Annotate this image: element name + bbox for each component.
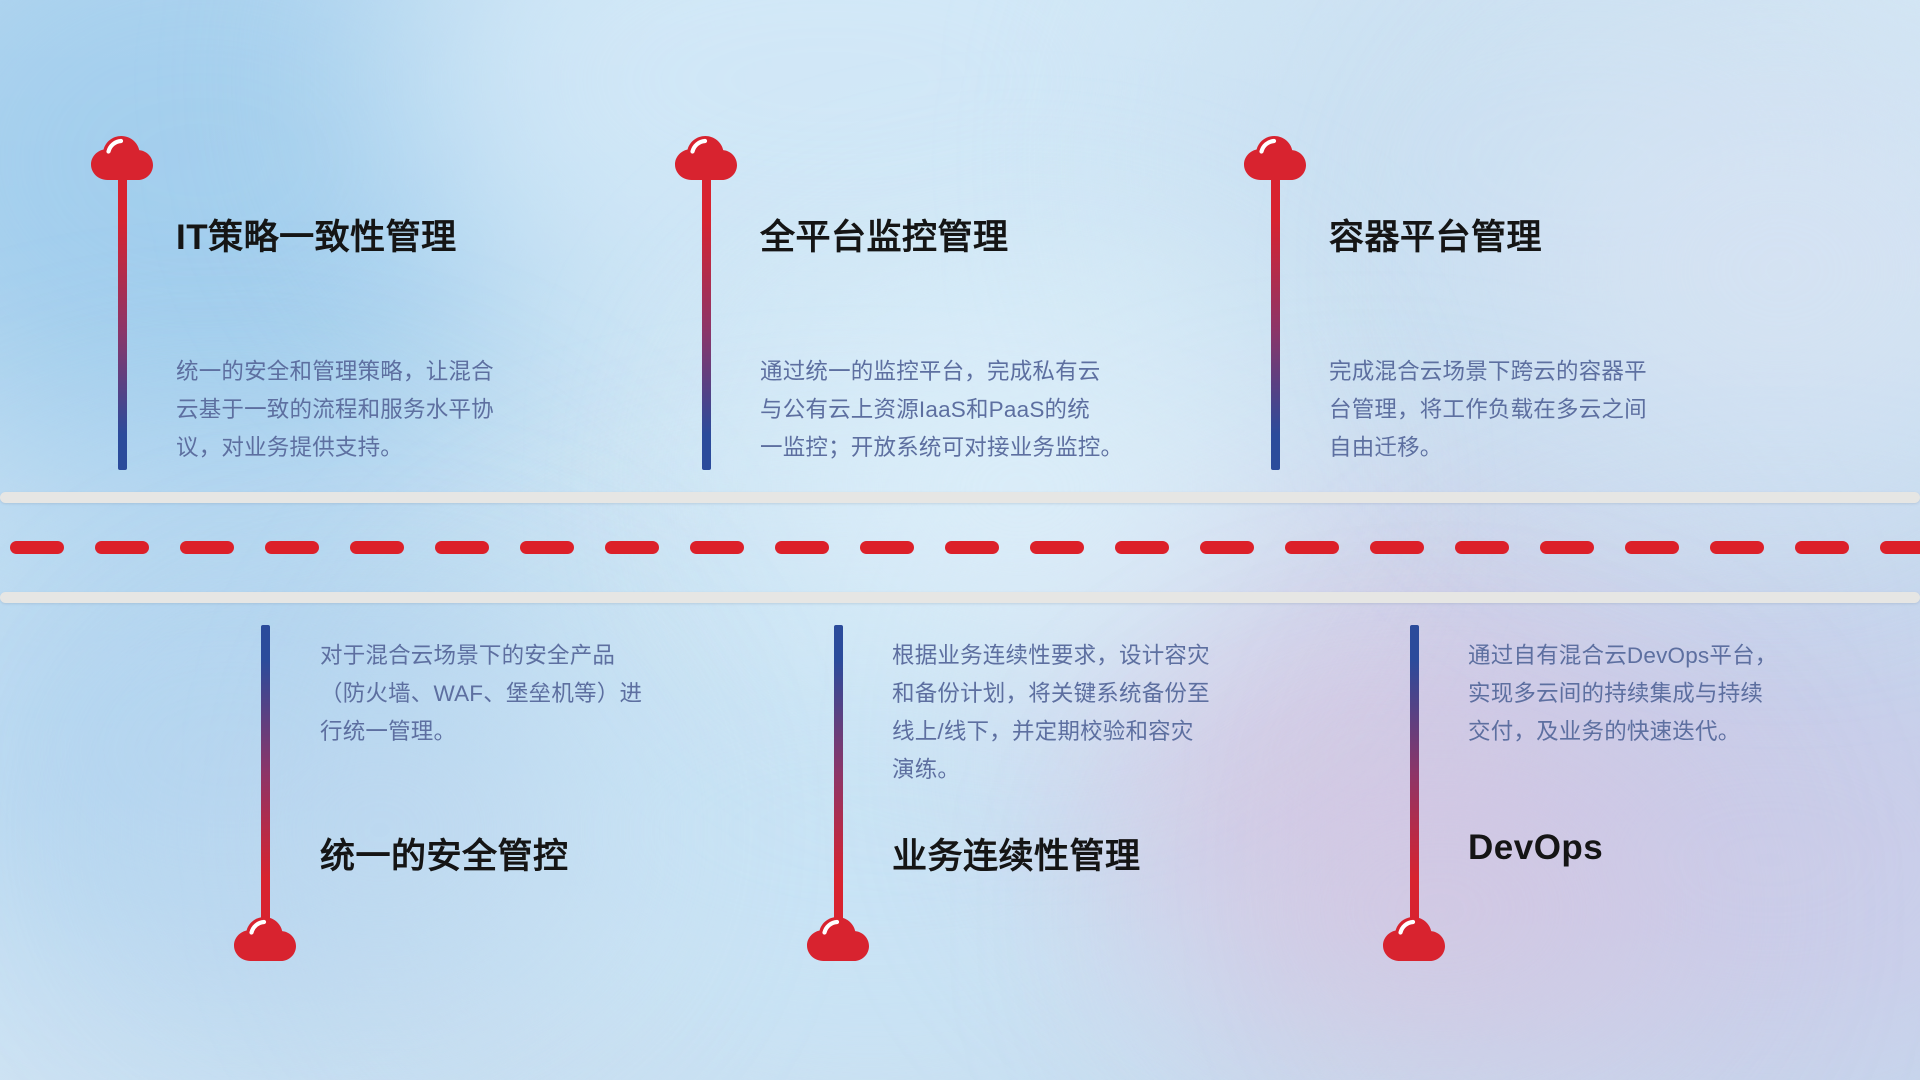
description-line: 通过统一的监控平台，完成私有云 xyxy=(760,353,1123,391)
item-title: DevOps xyxy=(1468,828,1603,868)
road-dash xyxy=(1625,541,1679,554)
road-dash xyxy=(1200,541,1254,554)
description-line: 实现多云间的持续集成与持续 xyxy=(1468,675,1777,713)
road-dash xyxy=(180,541,234,554)
description-line: 行统一管理。 xyxy=(320,713,642,751)
description-line: 完成混合云场景下跨云的容器平 xyxy=(1329,353,1647,391)
item-description: 根据业务连续性要求，设计容灾和备份计划，将关键系统备份至线上/线下，并定期校验和… xyxy=(892,637,1210,789)
item-title: 业务连续性管理 xyxy=(892,828,1141,879)
road-dash xyxy=(1115,541,1169,554)
description-line: 交付，及业务的快速迭代。 xyxy=(1468,713,1777,751)
cloud-icon xyxy=(1244,136,1306,181)
road-edge-top xyxy=(0,492,1920,503)
road-dash xyxy=(1285,541,1339,554)
road-dash xyxy=(435,541,489,554)
road-dash xyxy=(265,541,319,554)
item-stem xyxy=(261,625,270,920)
infographic-canvas: IT策略一致性管理统一的安全和管理策略，让混合云基于一致的流程和服务水平协议，对… xyxy=(0,0,1920,1080)
item-stem xyxy=(834,625,843,920)
item-stem xyxy=(1410,625,1419,920)
road-dash xyxy=(1540,541,1594,554)
description-line: 演练。 xyxy=(892,751,1210,789)
road-dash xyxy=(945,541,999,554)
cloud-icon xyxy=(234,917,296,962)
item-title: 全平台监控管理 xyxy=(760,209,1009,260)
description-line: 台管理，将工作负载在多云之间 xyxy=(1329,391,1647,429)
road-dashed-line xyxy=(0,541,1920,554)
item-description: 通过自有混合云DevOps平台，实现多云间的持续集成与持续交付，及业务的快速迭代… xyxy=(1468,637,1777,751)
item-description: 对于混合云场景下的安全产品（防火墙、WAF、堡垒机等）进行统一管理。 xyxy=(320,637,642,751)
description-line: 议，对业务提供支持。 xyxy=(176,429,494,467)
road-dash xyxy=(605,541,659,554)
description-line: 对于混合云场景下的安全产品 xyxy=(320,637,642,675)
item-title: IT策略一致性管理 xyxy=(176,209,457,260)
description-line: 线上/线下，并定期校验和容灾 xyxy=(892,713,1210,751)
cloud-icon xyxy=(675,136,737,181)
item-description: 统一的安全和管理策略，让混合云基于一致的流程和服务水平协议，对业务提供支持。 xyxy=(176,353,494,467)
cloud-icon xyxy=(1383,917,1445,962)
description-line: 云基于一致的流程和服务水平协 xyxy=(176,391,494,429)
item-stem xyxy=(1271,178,1280,470)
cloud-icon xyxy=(807,917,869,962)
description-line: （防火墙、WAF、堡垒机等）进 xyxy=(320,675,642,713)
road-dash xyxy=(775,541,829,554)
item-description: 通过统一的监控平台，完成私有云与公有云上资源IaaS和PaaS的统一监控；开放系… xyxy=(760,353,1123,467)
description-line: 通过自有混合云DevOps平台， xyxy=(1468,637,1777,675)
item-title: 统一的安全管控 xyxy=(320,828,569,879)
road-dash xyxy=(860,541,914,554)
item-stem xyxy=(702,178,711,470)
description-line: 一监控；开放系统可对接业务监控。 xyxy=(760,429,1123,467)
road-dash xyxy=(690,541,744,554)
cloud-icon xyxy=(91,136,153,181)
description-line: 统一的安全和管理策略，让混合 xyxy=(176,353,494,391)
road-dash xyxy=(1880,541,1920,554)
road-dash xyxy=(1030,541,1084,554)
road-dash xyxy=(10,541,64,554)
road-dash xyxy=(1370,541,1424,554)
road-dash xyxy=(95,541,149,554)
road-dash xyxy=(1795,541,1849,554)
item-stem xyxy=(118,178,127,470)
item-description: 完成混合云场景下跨云的容器平台管理，将工作负载在多云之间自由迁移。 xyxy=(1329,353,1647,467)
description-line: 和备份计划，将关键系统备份至 xyxy=(892,675,1210,713)
description-line: 自由迁移。 xyxy=(1329,429,1647,467)
road-dash xyxy=(1710,541,1764,554)
road-dash xyxy=(350,541,404,554)
road-dash xyxy=(1455,541,1509,554)
road-dash xyxy=(520,541,574,554)
road-edge-bottom xyxy=(0,592,1920,603)
description-line: 与公有云上资源IaaS和PaaS的统 xyxy=(760,391,1123,429)
item-title: 容器平台管理 xyxy=(1329,209,1542,260)
description-line: 根据业务连续性要求，设计容灾 xyxy=(892,637,1210,675)
